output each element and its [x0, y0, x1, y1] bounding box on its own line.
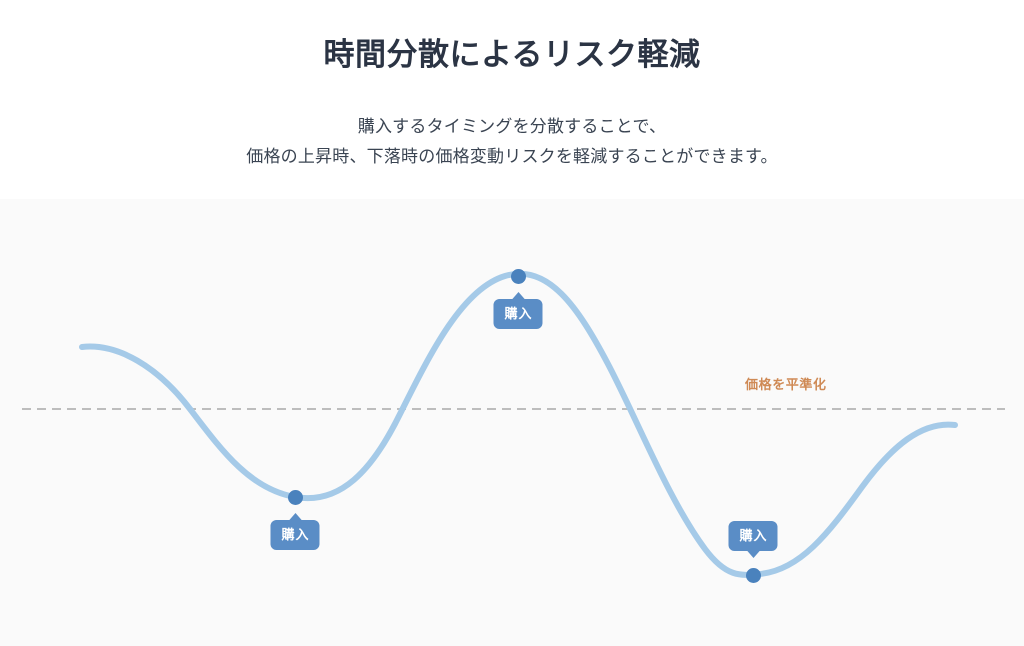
purchase-badge-3[interactable]: 購入 [728, 521, 777, 551]
purchase-marker-dot-1[interactable] [288, 490, 303, 505]
subtitle-line-1: 購入するタイミングを分散することで、 [0, 112, 1024, 142]
price-leveling-annotation: 価格を平準化 [745, 376, 827, 394]
purchase-marker-dot-3[interactable] [746, 568, 761, 583]
page-root: 時間分散によるリスク軽減 購入するタイミングを分散することで、 価格の上昇時、下… [0, 0, 1024, 646]
purchase-badge-1[interactable]: 購入 [270, 520, 319, 550]
purchase-marker-dot-2[interactable] [511, 269, 526, 284]
price-wave-chart [0, 199, 1024, 646]
page-title: 時間分散によるリスク軽減 [0, 33, 1024, 77]
chart-panel: 価格を平準化 購入 購入 購入 [0, 199, 1024, 646]
purchase-badge-2[interactable]: 購入 [493, 299, 542, 329]
header: 時間分散によるリスク軽減 購入するタイミングを分散することで、 価格の上昇時、下… [0, 0, 1024, 199]
subtitle-line-2: 価格の上昇時、下落時の価格変動リスクを軽減することができます。 [0, 142, 1024, 172]
page-subtitle: 購入するタイミングを分散することで、 価格の上昇時、下落時の価格変動リスクを軽減… [0, 112, 1024, 172]
